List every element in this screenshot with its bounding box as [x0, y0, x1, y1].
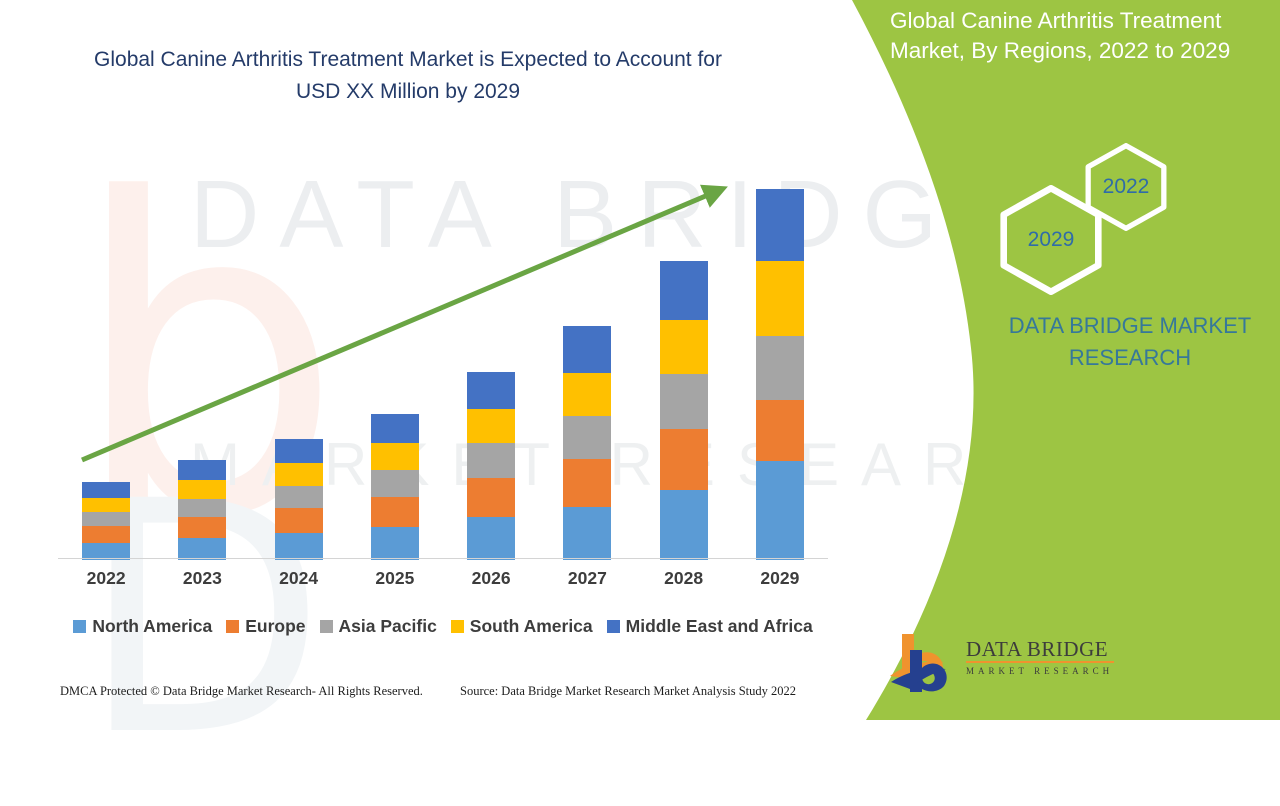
bar-segment	[563, 373, 611, 416]
x-axis-label-2026: 2026	[446, 568, 536, 589]
bar-segment	[82, 512, 130, 526]
bar-2026	[467, 372, 515, 560]
bar-2023	[178, 460, 226, 560]
x-axis-labels: 20222023202420252026202720282029	[58, 568, 828, 594]
data-bridge-logo: DATA BRIDGE MARKET RESEARCH	[888, 632, 1118, 694]
legend-label: North America	[92, 616, 212, 637]
bar-segment	[275, 463, 323, 486]
panel-title: Global Canine Arthritis Treatment Market…	[890, 6, 1270, 66]
bar-segment	[756, 461, 804, 560]
bar-segment	[756, 189, 804, 261]
x-axis-label-2023: 2023	[157, 568, 247, 589]
bar-segment	[275, 533, 323, 560]
chart-legend: North AmericaEuropeAsia PacificSouth Ame…	[58, 616, 828, 637]
bar-segment	[275, 508, 323, 533]
bar-segment	[660, 374, 708, 429]
bar-segment	[178, 460, 226, 480]
legend-item[interactable]: Europe	[226, 616, 305, 637]
bar-segment	[467, 478, 515, 517]
bar-segment	[563, 326, 611, 373]
bar-segment	[467, 372, 515, 409]
bar-2025	[371, 414, 419, 560]
x-axis-label-2024: 2024	[254, 568, 344, 589]
bar-segment	[371, 470, 419, 497]
legend-label: Asia Pacific	[339, 616, 437, 637]
hex-badge-2029: 2029	[996, 185, 1106, 295]
legend-label: South America	[470, 616, 593, 637]
bar-segment	[371, 497, 419, 527]
x-axis-label-2029: 2029	[735, 568, 825, 589]
bar-2029	[756, 189, 804, 560]
bar-segment	[563, 416, 611, 459]
bar-segment	[660, 261, 708, 320]
footer-source-text: Source: Data Bridge Market Research Mark…	[460, 684, 796, 699]
bar-segment	[660, 320, 708, 374]
legend-item[interactable]: Middle East and Africa	[607, 616, 813, 637]
logo-primary-text: DATA BRIDGE	[966, 636, 1116, 662]
bar-segment	[371, 527, 419, 560]
bar-2022	[82, 482, 130, 560]
legend-swatch-icon	[320, 620, 333, 633]
bar-segment	[660, 490, 708, 560]
bar-segment	[467, 517, 515, 560]
legend-swatch-icon	[607, 620, 620, 633]
bar-segment	[371, 414, 419, 443]
bar-chart-plot-area	[58, 170, 828, 560]
bar-segment	[275, 439, 323, 463]
bar-segment	[756, 261, 804, 336]
legend-item[interactable]: North America	[73, 616, 212, 637]
logo-wordmark: DATA BRIDGE MARKET RESEARCH	[966, 636, 1116, 676]
x-axis-label-2028: 2028	[639, 568, 729, 589]
bar-segment	[275, 486, 323, 508]
bar-segment	[756, 336, 804, 400]
hex-badge-2029-label: 2029	[1028, 228, 1075, 252]
logo-secondary-text: MARKET RESEARCH	[966, 666, 1116, 676]
bar-segment	[82, 498, 130, 512]
bar-segment	[563, 507, 611, 560]
bar-2027	[563, 326, 611, 560]
bar-2024	[275, 439, 323, 560]
x-axis-line	[58, 558, 828, 559]
legend-swatch-icon	[451, 620, 464, 633]
bar-segment	[660, 429, 708, 490]
logo-mark-icon	[888, 632, 960, 694]
x-axis-label-2025: 2025	[350, 568, 440, 589]
legend-label: Europe	[245, 616, 305, 637]
legend-item[interactable]: South America	[451, 616, 593, 637]
bar-segment	[82, 482, 130, 498]
hex-badge-2022-label: 2022	[1103, 175, 1150, 199]
legend-item[interactable]: Asia Pacific	[320, 616, 437, 637]
bar-segment	[178, 480, 226, 499]
legend-swatch-icon	[226, 620, 239, 633]
bar-segment	[467, 409, 515, 443]
bar-segment	[756, 400, 804, 461]
bar-segment	[371, 443, 419, 470]
brand-name: DATA BRIDGE MARKET RESEARCH	[985, 310, 1275, 374]
x-axis-label-2022: 2022	[61, 568, 151, 589]
bar-segment	[178, 517, 226, 538]
footer-dmca-text: DMCA Protected © Data Bridge Market Rese…	[60, 684, 423, 699]
chart-title: Global Canine Arthritis Treatment Market…	[78, 44, 738, 108]
footer: DMCA Protected © Data Bridge Market Rese…	[0, 684, 860, 706]
bar-2028	[660, 261, 708, 560]
x-axis-label-2027: 2027	[542, 568, 632, 589]
legend-swatch-icon	[73, 620, 86, 633]
bar-segment	[82, 526, 130, 543]
bar-segment	[178, 499, 226, 517]
bar-segment	[467, 443, 515, 478]
legend-label: Middle East and Africa	[626, 616, 813, 637]
bar-segment	[178, 538, 226, 560]
bar-segment	[563, 459, 611, 507]
